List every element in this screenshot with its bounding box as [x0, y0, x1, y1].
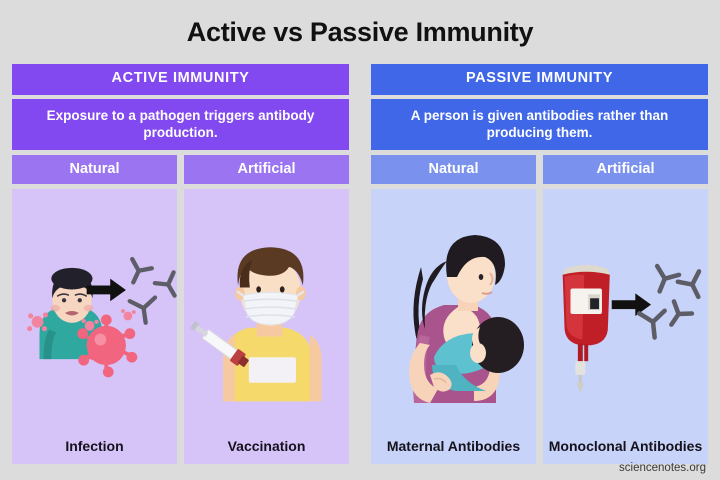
passive-immunity-column: PASSIVE IMMUNITY A person is given antib…: [371, 64, 708, 464]
vaccination-illustration: [184, 189, 349, 438]
active-immunity-description: Exposure to a pathogen triggers antibody…: [12, 99, 349, 151]
active-panels-row: Infection: [12, 189, 349, 464]
page-title: Active vs Passive Immunity: [0, 0, 720, 50]
panel-infection: Infection: [12, 189, 177, 464]
panel-monoclonal-antibodies: Monoclonal Antibodies: [543, 189, 708, 464]
infection-illustration: [12, 189, 177, 438]
mother-breastfeeding-baby-icon: [374, 225, 534, 403]
panel-label-infection: Infection: [12, 438, 177, 464]
maternal-antibodies-illustration: [371, 189, 536, 438]
masked-person-receiving-injection-icon: [184, 225, 349, 403]
passive-immunity-header: PASSIVE IMMUNITY: [371, 64, 708, 95]
active-immunity-header: ACTIVE IMMUNITY: [12, 64, 349, 95]
panel-label-vaccination: Vaccination: [184, 438, 349, 464]
panel-label-monoclonal-antibodies: Monoclonal Antibodies: [543, 438, 708, 464]
passive-immunity-description: A person is given antibodies rather than…: [371, 99, 708, 151]
passive-subheader-row: Natural Artificial: [371, 155, 708, 184]
panel-maternal-antibodies: Maternal Antibodies: [371, 189, 536, 464]
infographic-page: Active vs Passive Immunity ACTIVE IMMUNI…: [0, 0, 720, 480]
active-immunity-column: ACTIVE IMMUNITY Exposure to a pathogen t…: [12, 64, 349, 464]
panel-vaccination: Vaccination: [184, 189, 349, 464]
active-subhead-artificial: Artificial: [184, 155, 349, 184]
monoclonal-antibodies-illustration: [543, 189, 708, 438]
active-subhead-natural: Natural: [12, 155, 177, 184]
comparison-columns: ACTIVE IMMUNITY Exposure to a pathogen t…: [0, 64, 720, 464]
sick-person-virus-to-antibodies-icon: [12, 230, 177, 398]
passive-subhead-artificial: Artificial: [543, 155, 708, 184]
active-subheader-row: Natural Artificial: [12, 155, 349, 184]
panel-label-maternal-antibodies: Maternal Antibodies: [371, 438, 536, 464]
watermark: sciencenotes.org: [619, 462, 706, 474]
passive-subhead-natural: Natural: [371, 155, 536, 184]
blood-bag-to-antibodies-icon: [543, 230, 708, 398]
passive-panels-row: Maternal Antibodies: [371, 189, 708, 464]
